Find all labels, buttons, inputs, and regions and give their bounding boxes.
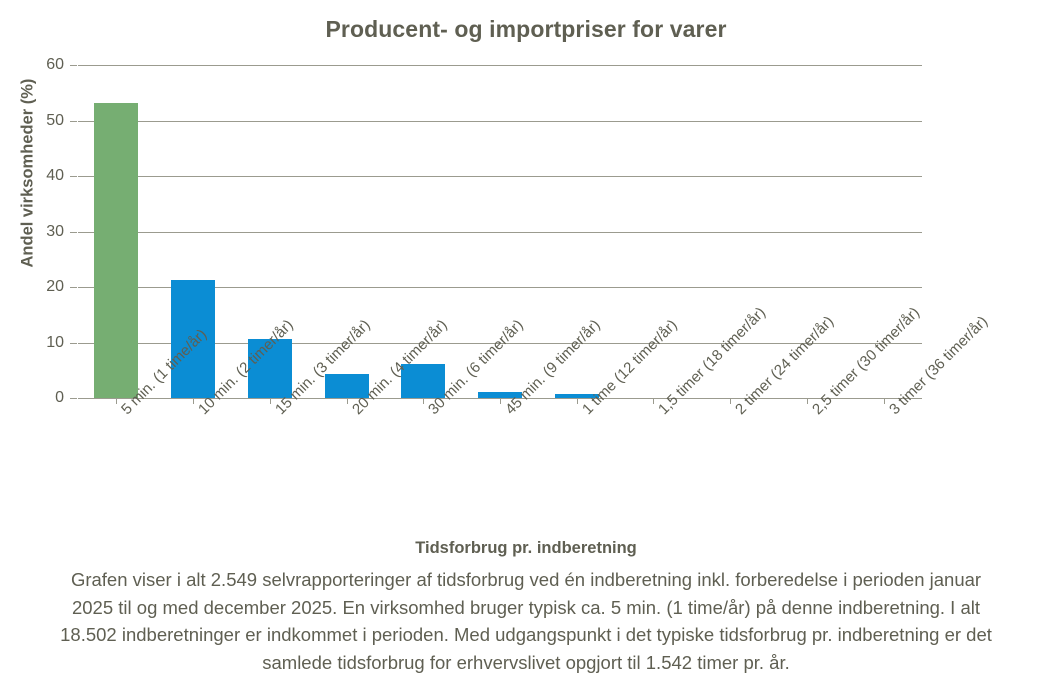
y-tick-label: 50 bbox=[46, 112, 64, 130]
y-gridline bbox=[78, 232, 922, 233]
y-gridline bbox=[78, 65, 922, 66]
y-tick-mark bbox=[70, 176, 77, 177]
y-tick-mark bbox=[70, 65, 77, 66]
y-gridline bbox=[78, 121, 922, 122]
x-tick-mark bbox=[500, 398, 501, 404]
x-axis-tick-labels: 5 min. (1 time/år)10 min. (2 timer/år)15… bbox=[78, 398, 922, 533]
y-tick-mark bbox=[70, 232, 77, 233]
y-axis-title: Andel virksomheder (%) bbox=[19, 88, 38, 268]
x-tick-mark bbox=[807, 398, 808, 404]
chart-container: Producent- og importpriser for varer And… bbox=[0, 0, 1052, 697]
x-axis-title: Tidsforbrug pr. indberetning bbox=[0, 539, 1052, 558]
y-tick-label: 20 bbox=[46, 278, 64, 296]
y-tick-mark bbox=[70, 287, 77, 288]
x-tick-mark bbox=[347, 398, 348, 404]
y-tick-label: 0 bbox=[55, 389, 64, 407]
x-tick-mark bbox=[116, 398, 117, 404]
y-gridline bbox=[78, 176, 922, 177]
y-tick-mark bbox=[70, 343, 77, 344]
bar[interactable] bbox=[94, 103, 138, 398]
y-tick-mark bbox=[70, 398, 77, 399]
y-tick-label: 60 bbox=[46, 56, 64, 74]
y-tick-mark bbox=[70, 121, 77, 122]
x-tick-mark bbox=[193, 398, 194, 404]
y-tick-label: 30 bbox=[46, 223, 64, 241]
x-tick-mark bbox=[423, 398, 424, 404]
x-tick-mark bbox=[884, 398, 885, 404]
x-tick-mark bbox=[730, 398, 731, 404]
chart-title: Producent- og importpriser for varer bbox=[0, 16, 1052, 43]
x-tick-mark bbox=[270, 398, 271, 404]
y-tick-label: 40 bbox=[46, 167, 64, 185]
x-tick-mark bbox=[653, 398, 654, 404]
y-tick-label: 10 bbox=[46, 334, 64, 352]
chart-caption: Grafen viser i alt 2.549 selvrapporterin… bbox=[55, 566, 997, 676]
x-tick-mark bbox=[577, 398, 578, 404]
